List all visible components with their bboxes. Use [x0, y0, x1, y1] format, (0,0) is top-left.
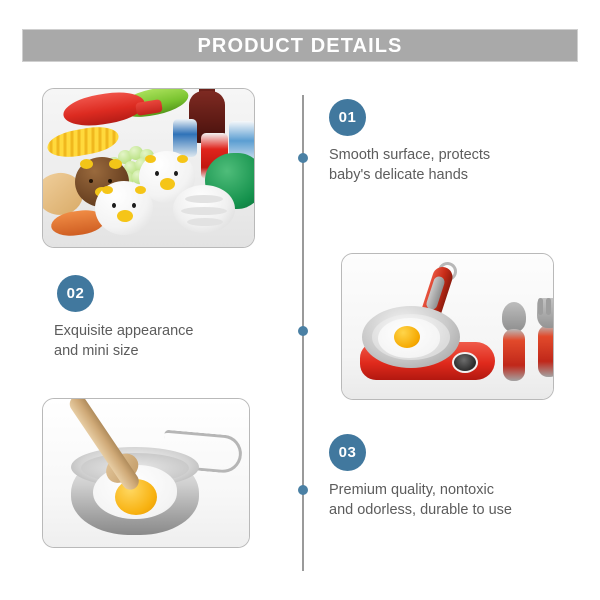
spoon-grip — [503, 329, 525, 381]
feature-number-badge-3: 03 — [329, 434, 366, 471]
product-details-page: PRODUCT DETAILS — [0, 0, 600, 600]
swirl-bun-toy — [173, 185, 235, 233]
blue-can-toy — [173, 119, 197, 157]
feature-number-badge-2: 02 — [57, 275, 94, 312]
feature-item-2: 02 Exquisite appearance and mini size — [54, 275, 193, 361]
pan-stove-utensils-photo — [341, 253, 554, 400]
chick-bun-toy-2 — [95, 181, 153, 235]
orange-can-toy — [254, 131, 255, 165]
fork-grip — [538, 325, 554, 377]
feature-number-badge-1: 01 — [329, 99, 366, 136]
fork-tines — [537, 298, 554, 328]
feature-item-1: 01 Smooth surface, protects baby's delic… — [329, 99, 490, 185]
stove-knob — [452, 352, 478, 373]
toy-spoon — [502, 302, 526, 381]
feature-text-3: Premium quality, nontoxic and odorless, … — [329, 480, 512, 520]
timeline-dot-1 — [298, 153, 308, 163]
page-header-banner: PRODUCT DETAILS — [22, 29, 578, 62]
feature-item-3: 03 Premium quality, nontoxic and odorles… — [329, 434, 512, 520]
toy-fork — [537, 298, 554, 377]
timeline-dot-2 — [298, 326, 308, 336]
fork-head — [537, 298, 554, 328]
feature-text-1: Smooth surface, protects baby's delicate… — [329, 145, 490, 185]
spoon-head — [502, 302, 526, 332]
toy-food-set-photo — [42, 88, 255, 248]
page-title: PRODUCT DETAILS — [197, 36, 402, 56]
fried-egg-yolk — [394, 326, 420, 348]
feature-text-2: Exquisite appearance and mini size — [54, 321, 193, 361]
timeline-line — [302, 95, 304, 571]
timeline-dot-3 — [298, 485, 308, 495]
pan-egg-spoon-photo — [42, 398, 250, 548]
